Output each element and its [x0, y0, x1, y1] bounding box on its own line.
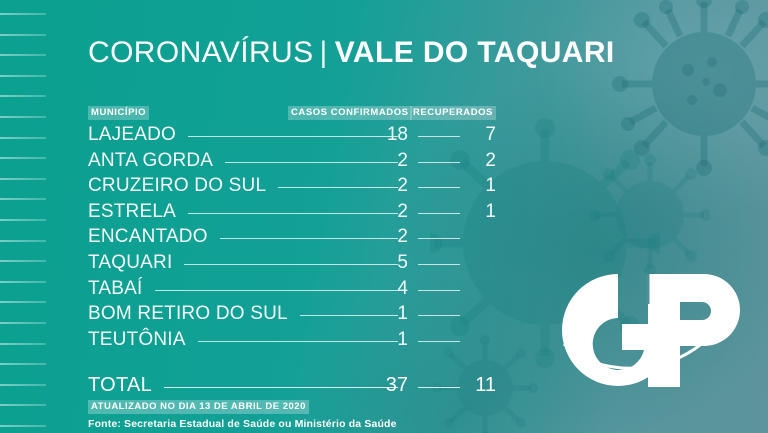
row-leader-line-1 [188, 136, 398, 137]
title-separator: | [320, 36, 328, 69]
row-leader-line-2 [418, 238, 460, 239]
tick-mark [0, 157, 46, 159]
column-header-casos-confirmados: CASOS CONFIRMADOS [288, 106, 412, 120]
row-casos-value: 2 [380, 201, 408, 223]
table-header-row: MUNICÍPIO CASOS CONFIRMADOS RECUPERADOS [88, 106, 518, 123]
footer: ATUALIZADO NO DIA 13 DE ABRIL DE 2020 Fo… [88, 396, 397, 430]
row-municipio: CRUZEIRO DO SUL [88, 175, 266, 197]
row-municipio: TABAÍ [88, 278, 143, 300]
title-coronavirus: CORONAVÍRUS [88, 36, 314, 69]
row-recuperados-value: 1 [470, 201, 496, 223]
row-leader-line-2 [418, 213, 460, 214]
tick-mark [0, 116, 46, 118]
row-municipio: LAJEADO [88, 124, 176, 146]
row-leader-line-2 [418, 187, 460, 188]
row-municipio: TAQUARI [88, 252, 172, 274]
table-body: LAJEADO187ANTA GORDA22CRUZEIRO DO SUL21E… [88, 123, 518, 353]
tick-mark [0, 198, 46, 200]
row-leader-line-2 [418, 290, 460, 291]
table-row: ESTRELA21 [88, 200, 518, 226]
row-leader-line-2 [418, 136, 460, 137]
row-casos-value: 4 [380, 278, 408, 300]
row-leader-line-2 [418, 264, 460, 265]
tick-mark [0, 75, 46, 77]
table-row: CRUZEIRO DO SUL21 [88, 174, 518, 200]
updated-date-badge: ATUALIZADO NO DIA 13 DE ABRIL DE 2020 [88, 400, 309, 414]
title-region: VALE DO TAQUARI [335, 36, 615, 69]
tick-mark [0, 219, 46, 221]
table-row: TABAÍ4 [88, 277, 518, 303]
row-municipio: BOM RETIRO DO SUL [88, 303, 288, 325]
table-row: BOM RETIRO DO SUL1 [88, 302, 518, 328]
row-leader-line-2 [418, 162, 460, 163]
tick-mark [0, 425, 46, 427]
row-casos-value: 1 [380, 303, 408, 325]
row-municipio: ENCANTADO [88, 226, 208, 248]
total-label: TOTAL [88, 374, 152, 397]
row-recuperados-value: 1 [470, 175, 496, 197]
total-recuperados-value: 11 [466, 374, 496, 397]
gp-logo-icon [556, 268, 756, 393]
row-recuperados-value: 7 [470, 124, 496, 146]
row-leader-line-2 [418, 315, 460, 316]
row-casos-value: 5 [380, 252, 408, 274]
tick-mark [0, 363, 46, 365]
table-row: LAJEADO187 [88, 123, 518, 149]
tick-mark [0, 137, 46, 139]
cases-table: MUNICÍPIO CASOS CONFIRMADOS RECUPERADOS … [88, 106, 518, 353]
row-leader-line-1 [184, 264, 398, 265]
row-leader-line-1 [225, 162, 398, 163]
source-text: Fonte: Secretaria Estadual de Saúde ou M… [88, 418, 397, 430]
tick-mark [0, 178, 46, 180]
row-casos-value: 2 [380, 226, 408, 248]
row-leader-line-1 [198, 341, 398, 342]
total-casos-value: 37 [376, 374, 408, 397]
tick-mark [0, 281, 46, 283]
row-casos-value: 18 [380, 124, 408, 146]
tick-mark [0, 54, 46, 56]
tick-mark [0, 13, 46, 15]
row-leader-line-2 [418, 341, 460, 342]
tick-mark [0, 384, 46, 386]
column-header-recuperados: RECUPERADOS [410, 106, 496, 120]
page-title: CORONAVÍRUS|VALE DO TAQUARI [88, 36, 615, 70]
total-leader-line-1 [164, 387, 398, 388]
tick-mark [0, 34, 46, 36]
row-municipio: ANTA GORDA [88, 150, 213, 172]
tick-mark [0, 301, 46, 303]
row-municipio: TEUTÔNIA [88, 329, 186, 351]
total-leader-line-2 [418, 387, 460, 388]
table-row: TAQUARI5 [88, 251, 518, 277]
tick-mark [0, 260, 46, 262]
row-casos-value: 2 [380, 175, 408, 197]
table-row: ANTA GORDA22 [88, 149, 518, 175]
gp-logo [556, 268, 756, 393]
tick-mark [0, 322, 46, 324]
row-casos-value: 2 [380, 150, 408, 172]
row-casos-value: 1 [380, 329, 408, 351]
tick-mark [0, 404, 46, 406]
row-leader-line-1 [220, 238, 398, 239]
left-edge-tick-marks [0, 0, 46, 433]
tick-mark [0, 343, 46, 345]
table-row: ENCANTADO2 [88, 225, 518, 251]
row-municipio: ESTRELA [88, 201, 176, 223]
row-recuperados-value: 2 [470, 150, 496, 172]
table-row: TEUTÔNIA1 [88, 328, 518, 354]
table-total-row: TOTAL 37 11 [88, 374, 518, 398]
row-leader-line-1 [188, 213, 398, 214]
row-leader-line-1 [155, 290, 398, 291]
column-header-municipio: MUNICÍPIO [88, 106, 149, 120]
tick-mark [0, 240, 46, 242]
coronavirus-particle-icon [590, 150, 710, 280]
tick-mark [0, 95, 46, 97]
